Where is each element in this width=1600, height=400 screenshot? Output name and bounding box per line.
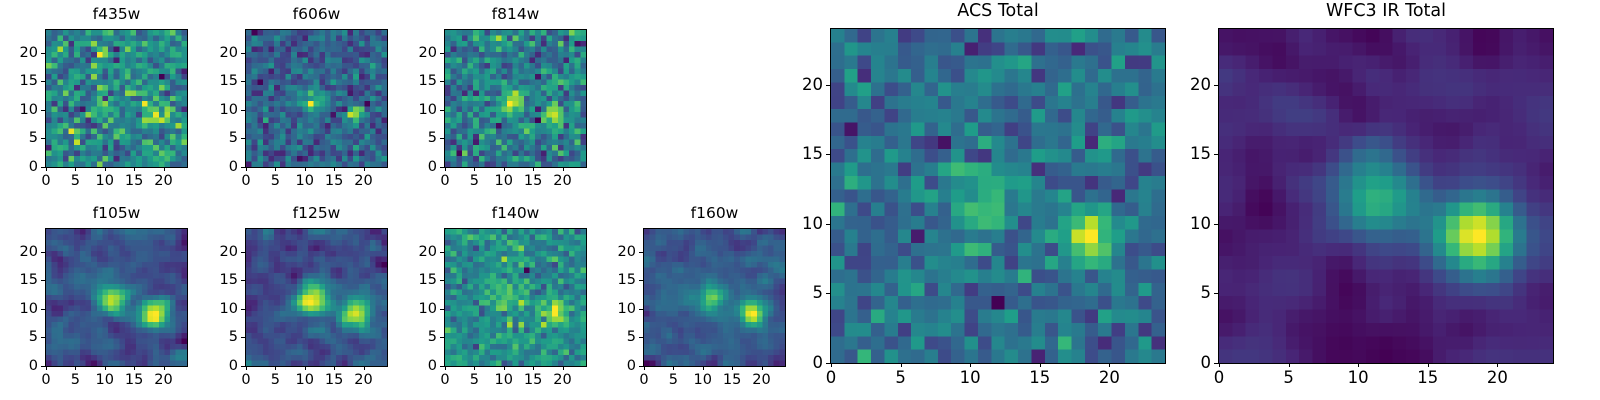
x-tick-acs_total-10 xyxy=(970,363,971,367)
y-tick-f105w-0 xyxy=(41,366,45,367)
panel-title-acs_total: ACS Total xyxy=(830,3,1166,21)
y-tick-f606w-0 xyxy=(241,167,245,168)
x-tick-f105w-20 xyxy=(164,366,165,370)
x-tick-f814w-5 xyxy=(474,167,475,171)
x-tick-f105w-15 xyxy=(134,366,135,370)
y-tick-label-f435w-10: 10 xyxy=(20,103,38,118)
panel-f606w: f606w0510152005101520 xyxy=(245,29,388,168)
panel-acs_total: ACS Total0510152005101520 xyxy=(830,28,1166,364)
y-tick-wfc3_ir_total-5 xyxy=(1214,293,1218,294)
panel-title-f125w: f125w xyxy=(245,206,388,222)
y-tick-label-f105w-5: 5 xyxy=(29,330,38,345)
x-tick-f606w-20 xyxy=(364,167,365,171)
x-tick-label-f435w-5: 5 xyxy=(71,174,80,189)
x-tick-label-wfc3_ir_total-15: 15 xyxy=(1417,370,1438,387)
y-tick-label-f814w-15: 15 xyxy=(419,74,437,89)
y-tick-f435w-20 xyxy=(41,53,45,54)
x-tick-label-f140w-20: 20 xyxy=(553,373,571,388)
y-tick-f606w-10 xyxy=(241,110,245,111)
y-tick-label-acs_total-15: 15 xyxy=(802,146,823,163)
x-tick-f606w-15 xyxy=(334,167,335,171)
y-tick-f105w-10 xyxy=(41,309,45,310)
y-tick-f105w-15 xyxy=(41,280,45,281)
y-tick-label-acs_total-20: 20 xyxy=(802,76,823,93)
x-tick-label-f125w-10: 10 xyxy=(296,373,314,388)
x-tick-label-f125w-15: 15 xyxy=(325,373,343,388)
x-tick-f814w-15 xyxy=(533,167,534,171)
y-tick-f105w-5 xyxy=(41,337,45,338)
y-tick-label-acs_total-5: 5 xyxy=(813,285,824,302)
x-tick-f160w-15 xyxy=(732,366,733,370)
x-tick-f125w-15 xyxy=(334,366,335,370)
y-tick-wfc3_ir_total-10 xyxy=(1214,224,1218,225)
y-tick-f105w-20 xyxy=(41,252,45,253)
x-tick-wfc3_ir_total-10 xyxy=(1358,363,1359,367)
y-tick-label-acs_total-0: 0 xyxy=(813,355,824,372)
x-tick-label-f105w-0: 0 xyxy=(41,373,50,388)
x-tick-label-f125w-0: 0 xyxy=(241,373,250,388)
x-tick-label-f435w-10: 10 xyxy=(96,174,114,189)
x-tick-f606w-10 xyxy=(305,167,306,171)
y-tick-f160w-20 xyxy=(639,252,643,253)
y-tick-label-f125w-20: 20 xyxy=(220,245,238,260)
x-tick-acs_total-5 xyxy=(901,363,902,367)
y-tick-label-f160w-5: 5 xyxy=(627,330,636,345)
heatmap-f160w xyxy=(643,228,786,367)
y-tick-label-f606w-15: 15 xyxy=(220,74,238,89)
y-tick-label-f435w-20: 20 xyxy=(20,46,38,61)
y-tick-f140w-5 xyxy=(440,337,444,338)
x-tick-label-f140w-0: 0 xyxy=(440,373,449,388)
y-tick-label-f606w-0: 0 xyxy=(229,160,238,175)
y-tick-acs_total-10 xyxy=(826,224,830,225)
x-tick-acs_total-20 xyxy=(1109,363,1110,367)
y-tick-f125w-5 xyxy=(241,337,245,338)
heatmap-f814w xyxy=(444,29,587,168)
y-tick-label-f606w-5: 5 xyxy=(229,131,238,146)
y-tick-f140w-10 xyxy=(440,309,444,310)
x-tick-label-f606w-10: 10 xyxy=(296,174,314,189)
x-tick-acs_total-0 xyxy=(831,363,832,367)
panel-title-f105w: f105w xyxy=(45,206,188,222)
x-tick-label-f435w-0: 0 xyxy=(41,174,50,189)
heatmap-image-f435w xyxy=(46,30,187,167)
y-tick-label-f105w-0: 0 xyxy=(29,359,38,374)
y-tick-f606w-20 xyxy=(241,53,245,54)
x-tick-f160w-10 xyxy=(703,366,704,370)
y-tick-label-f140w-0: 0 xyxy=(428,359,437,374)
panel-title-wfc3_ir_total: WFC3 IR Total xyxy=(1218,3,1554,21)
y-tick-label-f435w-15: 15 xyxy=(20,74,38,89)
panel-f814w: f814w0510152005101520 xyxy=(444,29,587,168)
y-tick-f814w-10 xyxy=(440,110,444,111)
x-tick-label-f125w-20: 20 xyxy=(354,373,372,388)
x-tick-label-f105w-15: 15 xyxy=(125,373,143,388)
x-tick-label-acs_total-20: 20 xyxy=(1099,370,1120,387)
y-tick-label-f105w-20: 20 xyxy=(20,245,38,260)
y-tick-label-f814w-20: 20 xyxy=(419,46,437,61)
y-tick-f140w-0 xyxy=(440,366,444,367)
y-tick-label-f125w-15: 15 xyxy=(220,273,238,288)
panel-f435w: f435w0510152005101520 xyxy=(45,29,188,168)
y-tick-f160w-0 xyxy=(639,366,643,367)
x-tick-label-f814w-20: 20 xyxy=(553,174,571,189)
heatmap-f125w xyxy=(245,228,388,367)
y-tick-label-wfc3_ir_total-15: 15 xyxy=(1190,146,1211,163)
y-tick-label-f105w-15: 15 xyxy=(20,273,38,288)
x-tick-label-f160w-15: 15 xyxy=(723,373,741,388)
y-tick-f125w-15 xyxy=(241,280,245,281)
x-tick-wfc3_ir_total-0 xyxy=(1219,363,1220,367)
y-tick-label-f814w-5: 5 xyxy=(428,131,437,146)
y-tick-wfc3_ir_total-15 xyxy=(1214,154,1218,155)
y-tick-f160w-15 xyxy=(639,280,643,281)
panel-f140w: f140w0510152005101520 xyxy=(444,228,587,367)
y-tick-label-f140w-10: 10 xyxy=(419,302,437,317)
x-tick-f435w-20 xyxy=(164,167,165,171)
y-tick-f435w-0 xyxy=(41,167,45,168)
x-tick-label-f606w-15: 15 xyxy=(325,174,343,189)
x-tick-label-wfc3_ir_total-20: 20 xyxy=(1487,370,1508,387)
x-tick-f160w-20 xyxy=(762,366,763,370)
x-tick-label-f160w-5: 5 xyxy=(669,373,678,388)
y-tick-f125w-20 xyxy=(241,252,245,253)
y-tick-label-f125w-0: 0 xyxy=(229,359,238,374)
y-tick-label-acs_total-10: 10 xyxy=(802,216,823,233)
y-tick-label-f435w-5: 5 xyxy=(29,131,38,146)
x-tick-label-wfc3_ir_total-10: 10 xyxy=(1348,370,1369,387)
x-tick-label-acs_total-10: 10 xyxy=(960,370,981,387)
y-tick-f606w-5 xyxy=(241,138,245,139)
x-tick-label-acs_total-15: 15 xyxy=(1029,370,1050,387)
heatmap-f105w xyxy=(45,228,188,367)
x-tick-label-f160w-20: 20 xyxy=(752,373,770,388)
y-tick-f125w-0 xyxy=(241,366,245,367)
x-tick-label-wfc3_ir_total-5: 5 xyxy=(1283,370,1294,387)
heatmap-wfc3_ir_total xyxy=(1218,28,1554,364)
y-tick-acs_total-5 xyxy=(826,293,830,294)
x-tick-f125w-20 xyxy=(364,366,365,370)
y-tick-f814w-15 xyxy=(440,81,444,82)
x-tick-label-f435w-20: 20 xyxy=(154,174,172,189)
x-tick-f140w-5 xyxy=(474,366,475,370)
y-tick-label-f606w-20: 20 xyxy=(220,46,238,61)
panel-title-f435w: f435w xyxy=(45,7,188,23)
x-tick-wfc3_ir_total-15 xyxy=(1428,363,1429,367)
x-tick-wfc3_ir_total-5 xyxy=(1289,363,1290,367)
heatmap-image-wfc3_ir_total xyxy=(1219,29,1553,363)
x-tick-label-f105w-10: 10 xyxy=(96,373,114,388)
x-tick-f140w-20 xyxy=(563,366,564,370)
x-tick-label-f814w-10: 10 xyxy=(495,174,513,189)
x-tick-label-f814w-5: 5 xyxy=(470,174,479,189)
x-tick-label-f435w-15: 15 xyxy=(125,174,143,189)
x-tick-label-f125w-5: 5 xyxy=(271,373,280,388)
y-tick-f140w-15 xyxy=(440,280,444,281)
y-tick-acs_total-0 xyxy=(826,363,830,364)
x-tick-f140w-15 xyxy=(533,366,534,370)
y-tick-f435w-10 xyxy=(41,110,45,111)
x-tick-f105w-0 xyxy=(46,366,47,370)
x-tick-acs_total-15 xyxy=(1040,363,1041,367)
x-tick-label-acs_total-0: 0 xyxy=(826,370,837,387)
y-tick-f606w-15 xyxy=(241,81,245,82)
y-tick-f140w-20 xyxy=(440,252,444,253)
y-tick-f814w-0 xyxy=(440,167,444,168)
x-tick-f125w-5 xyxy=(275,366,276,370)
x-tick-f160w-0 xyxy=(644,366,645,370)
x-tick-f814w-10 xyxy=(504,167,505,171)
panel-title-f606w: f606w xyxy=(245,7,388,23)
y-tick-f125w-10 xyxy=(241,309,245,310)
x-tick-label-f140w-15: 15 xyxy=(524,373,542,388)
panel-wfc3_ir_total: WFC3 IR Total0510152005101520 xyxy=(1218,28,1554,364)
x-tick-label-f606w-20: 20 xyxy=(354,174,372,189)
y-tick-f814w-20 xyxy=(440,53,444,54)
y-tick-label-f140w-20: 20 xyxy=(419,245,437,260)
panel-f125w: f125w0510152005101520 xyxy=(245,228,388,367)
x-tick-f606w-0 xyxy=(246,167,247,171)
heatmap-image-f105w xyxy=(46,229,187,366)
heatmap-image-f606w xyxy=(246,30,387,167)
heatmap-image-f160w xyxy=(644,229,785,366)
y-tick-label-f105w-10: 10 xyxy=(20,302,38,317)
panel-title-f140w: f140w xyxy=(444,206,587,222)
heatmap-image-f125w xyxy=(246,229,387,366)
x-tick-f140w-10 xyxy=(504,366,505,370)
heatmap-image-acs_total xyxy=(831,29,1165,363)
heatmap-f435w xyxy=(45,29,188,168)
y-tick-f435w-5 xyxy=(41,138,45,139)
y-tick-label-f435w-0: 0 xyxy=(29,160,38,175)
y-tick-label-f160w-15: 15 xyxy=(618,273,636,288)
x-tick-label-f160w-0: 0 xyxy=(639,373,648,388)
x-tick-wfc3_ir_total-20 xyxy=(1497,363,1498,367)
x-tick-f125w-10 xyxy=(305,366,306,370)
x-tick-label-f105w-20: 20 xyxy=(154,373,172,388)
x-tick-label-acs_total-5: 5 xyxy=(895,370,906,387)
x-tick-label-f814w-0: 0 xyxy=(440,174,449,189)
heatmap-image-f814w xyxy=(445,30,586,167)
x-tick-f814w-0 xyxy=(445,167,446,171)
y-tick-label-f140w-5: 5 xyxy=(428,330,437,345)
x-tick-f814w-20 xyxy=(563,167,564,171)
x-tick-f105w-10 xyxy=(105,366,106,370)
y-tick-label-f814w-10: 10 xyxy=(419,103,437,118)
y-tick-label-wfc3_ir_total-10: 10 xyxy=(1190,216,1211,233)
y-tick-label-wfc3_ir_total-20: 20 xyxy=(1190,76,1211,93)
heatmap-image-f140w xyxy=(445,229,586,366)
panel-title-f814w: f814w xyxy=(444,7,587,23)
x-tick-f140w-0 xyxy=(445,366,446,370)
panel-f105w: f105w0510152005101520 xyxy=(45,228,188,367)
x-tick-label-f105w-5: 5 xyxy=(71,373,80,388)
y-tick-label-wfc3_ir_total-5: 5 xyxy=(1201,285,1212,302)
x-tick-f435w-10 xyxy=(105,167,106,171)
x-tick-f105w-5 xyxy=(75,366,76,370)
y-tick-f160w-10 xyxy=(639,309,643,310)
y-tick-label-f606w-10: 10 xyxy=(220,103,238,118)
y-tick-label-f814w-0: 0 xyxy=(428,160,437,175)
x-tick-label-f140w-5: 5 xyxy=(470,373,479,388)
x-tick-f435w-5 xyxy=(75,167,76,171)
panel-title-f160w: f160w xyxy=(643,206,786,222)
heatmap-acs_total xyxy=(830,28,1166,364)
y-tick-label-f125w-5: 5 xyxy=(229,330,238,345)
x-tick-f606w-5 xyxy=(275,167,276,171)
heatmap-f140w xyxy=(444,228,587,367)
y-tick-wfc3_ir_total-20 xyxy=(1214,85,1218,86)
y-tick-label-f160w-0: 0 xyxy=(627,359,636,374)
x-tick-label-f606w-0: 0 xyxy=(241,174,250,189)
x-tick-f435w-15 xyxy=(134,167,135,171)
figure-canvas: f435w0510152005101520f606w05101520051015… xyxy=(0,0,1600,400)
x-tick-f160w-5 xyxy=(673,366,674,370)
y-tick-wfc3_ir_total-0 xyxy=(1214,363,1218,364)
x-tick-f125w-0 xyxy=(246,366,247,370)
y-tick-acs_total-20 xyxy=(826,85,830,86)
x-tick-label-f606w-5: 5 xyxy=(271,174,280,189)
y-tick-label-f160w-20: 20 xyxy=(618,245,636,260)
y-tick-label-f140w-15: 15 xyxy=(419,273,437,288)
y-tick-f814w-5 xyxy=(440,138,444,139)
panel-f160w: f160w0510152005101520 xyxy=(643,228,786,367)
y-tick-f160w-5 xyxy=(639,337,643,338)
x-tick-f435w-0 xyxy=(46,167,47,171)
y-tick-label-wfc3_ir_total-0: 0 xyxy=(1201,355,1212,372)
x-tick-label-f814w-15: 15 xyxy=(524,174,542,189)
y-tick-label-f125w-10: 10 xyxy=(220,302,238,317)
x-tick-label-f160w-10: 10 xyxy=(694,373,712,388)
x-tick-label-f140w-10: 10 xyxy=(495,373,513,388)
y-tick-label-f160w-10: 10 xyxy=(618,302,636,317)
heatmap-f606w xyxy=(245,29,388,168)
y-tick-f435w-15 xyxy=(41,81,45,82)
x-tick-label-wfc3_ir_total-0: 0 xyxy=(1214,370,1225,387)
y-tick-acs_total-15 xyxy=(826,154,830,155)
